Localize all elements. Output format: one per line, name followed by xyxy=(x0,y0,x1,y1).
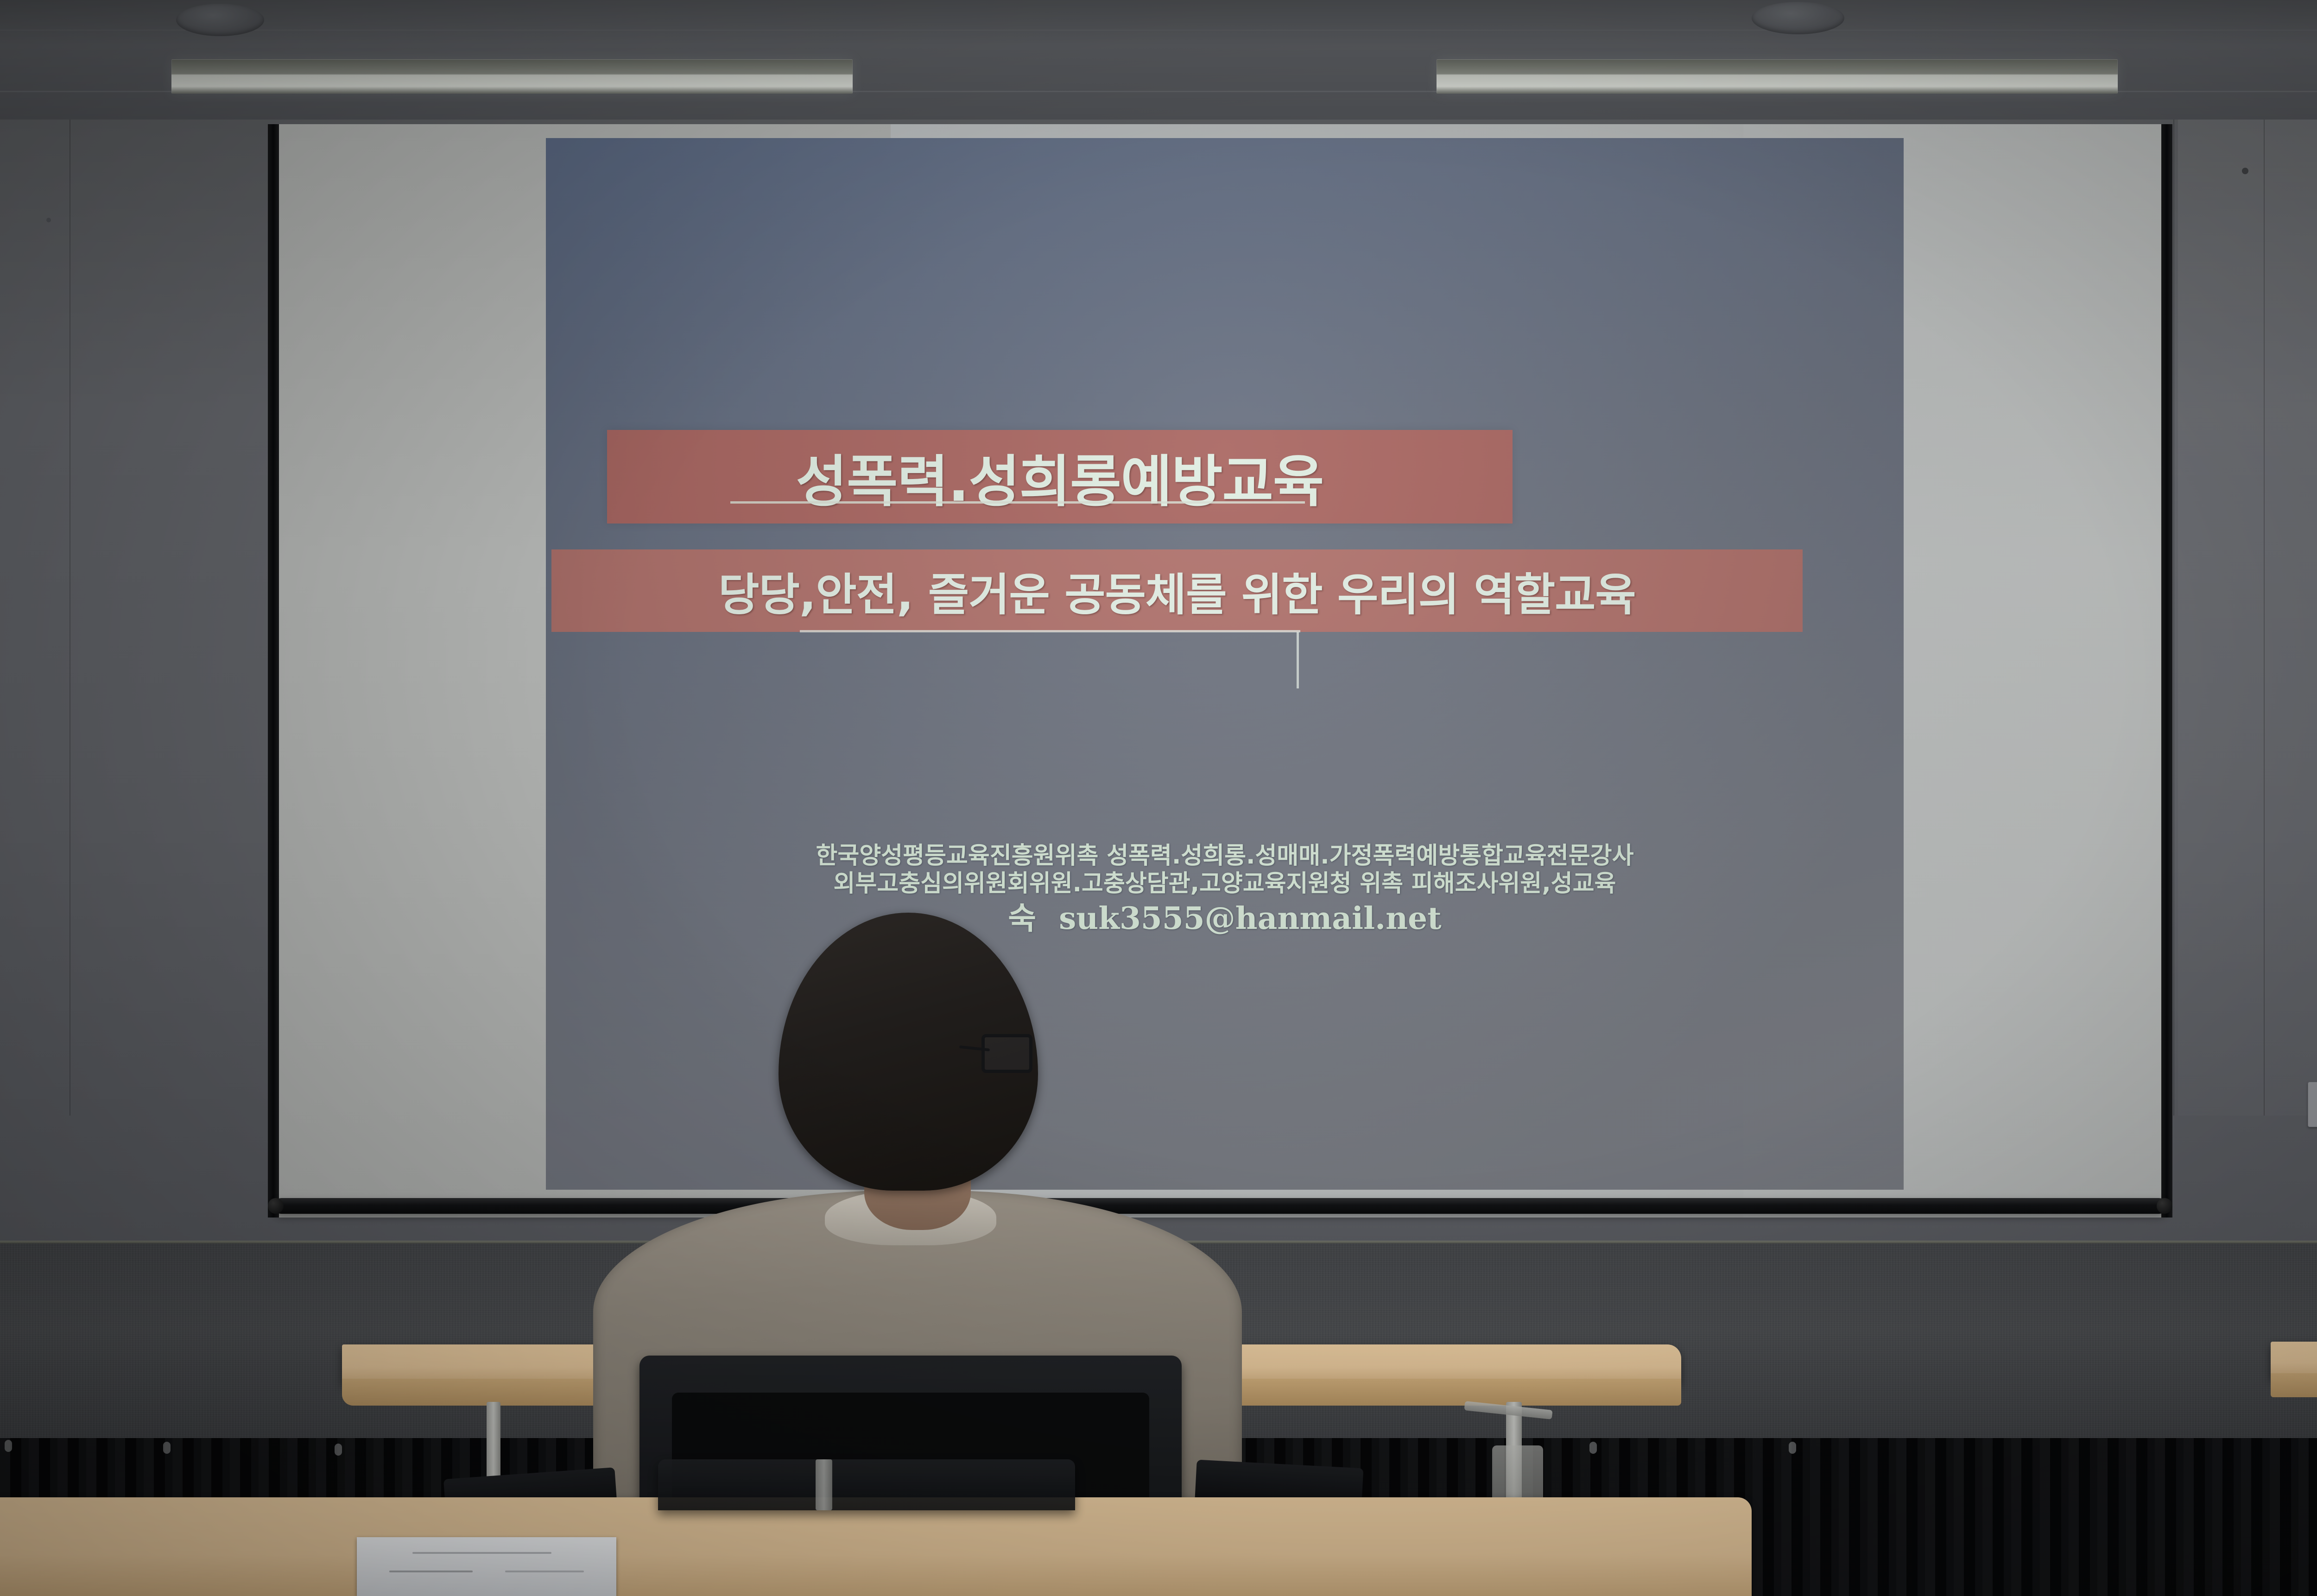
lecture-room-photo: 성폭력.성희롱예방교육 당당,안전, 즐거운 공동체를 위한 우리의 역할교육 … xyxy=(0,0,2317,1596)
screen-weight-bar-cap-left xyxy=(268,1198,284,1214)
ceiling-speaker-right xyxy=(1752,2,1844,34)
slide-subtitle-underline xyxy=(800,630,1300,632)
slide-title-band: 성폭력.성희롱예방교육 xyxy=(607,430,1513,524)
ceiling-seam-upper xyxy=(0,30,2317,31)
desk-foreground-left xyxy=(0,1497,1752,1596)
skirt-clip-4 xyxy=(1589,1442,1597,1454)
ceiling-light-right xyxy=(1437,59,2118,94)
slide-subtitle-drop-line xyxy=(1297,632,1299,688)
paper-foreground-line-1 xyxy=(412,1552,551,1554)
chair-foreground-middle xyxy=(658,1459,1075,1510)
paper-foreground-line-3 xyxy=(505,1571,584,1572)
ceiling-light-left xyxy=(171,59,853,94)
wall-outlet xyxy=(2308,1082,2317,1127)
screen-weight-bar-cap-right xyxy=(2157,1198,2172,1214)
desk-right xyxy=(2271,1342,2317,1378)
wall-fastener-8 xyxy=(46,218,51,222)
skirt-clip-1 xyxy=(5,1440,12,1452)
wall-panel-seam-3 xyxy=(2264,120,2265,1116)
slide-subtitle: 당당,안전, 즐거운 공동체를 위한 우리의 역할교육 xyxy=(718,559,1635,623)
slide-credit-line-2: 외부고충심의위원회위원.고충상담관,고양교육지원청 위촉 피해조사위원,성교육 xyxy=(546,870,1904,898)
wall-fastener-1 xyxy=(2242,168,2248,174)
screen-left-border xyxy=(268,124,279,1218)
desk-right-edge xyxy=(2271,1373,2317,1397)
ceiling-speaker-left xyxy=(176,4,264,36)
paper-foreground-left xyxy=(357,1537,616,1596)
slide-credit-line-1: 한국양성평등교육진흥원위촉 성폭력.성희롱.성매매.가정폭력예방통합교육전문강사 xyxy=(546,842,1904,870)
attendee-center-glasses xyxy=(981,1034,1032,1073)
wall-panel-seam-1 xyxy=(70,120,70,1116)
slide-title-underline xyxy=(730,501,1305,504)
chair-foreground-stem xyxy=(816,1459,832,1510)
paper-foreground-line-2 xyxy=(389,1571,473,1572)
wall-panel-seam-2 xyxy=(2173,120,2174,1116)
screen-right-border xyxy=(2161,124,2172,1218)
slide-subtitle-band: 당당,안전, 즐거운 공동체를 위한 우리의 역할교육 xyxy=(551,549,1803,632)
skirt-clip-5 xyxy=(1789,1442,1796,1454)
slide-title: 성폭력.성희롱예방교육 xyxy=(796,436,1324,517)
skirt-clip-2 xyxy=(163,1442,171,1454)
skirt-clip-3 xyxy=(335,1444,342,1456)
